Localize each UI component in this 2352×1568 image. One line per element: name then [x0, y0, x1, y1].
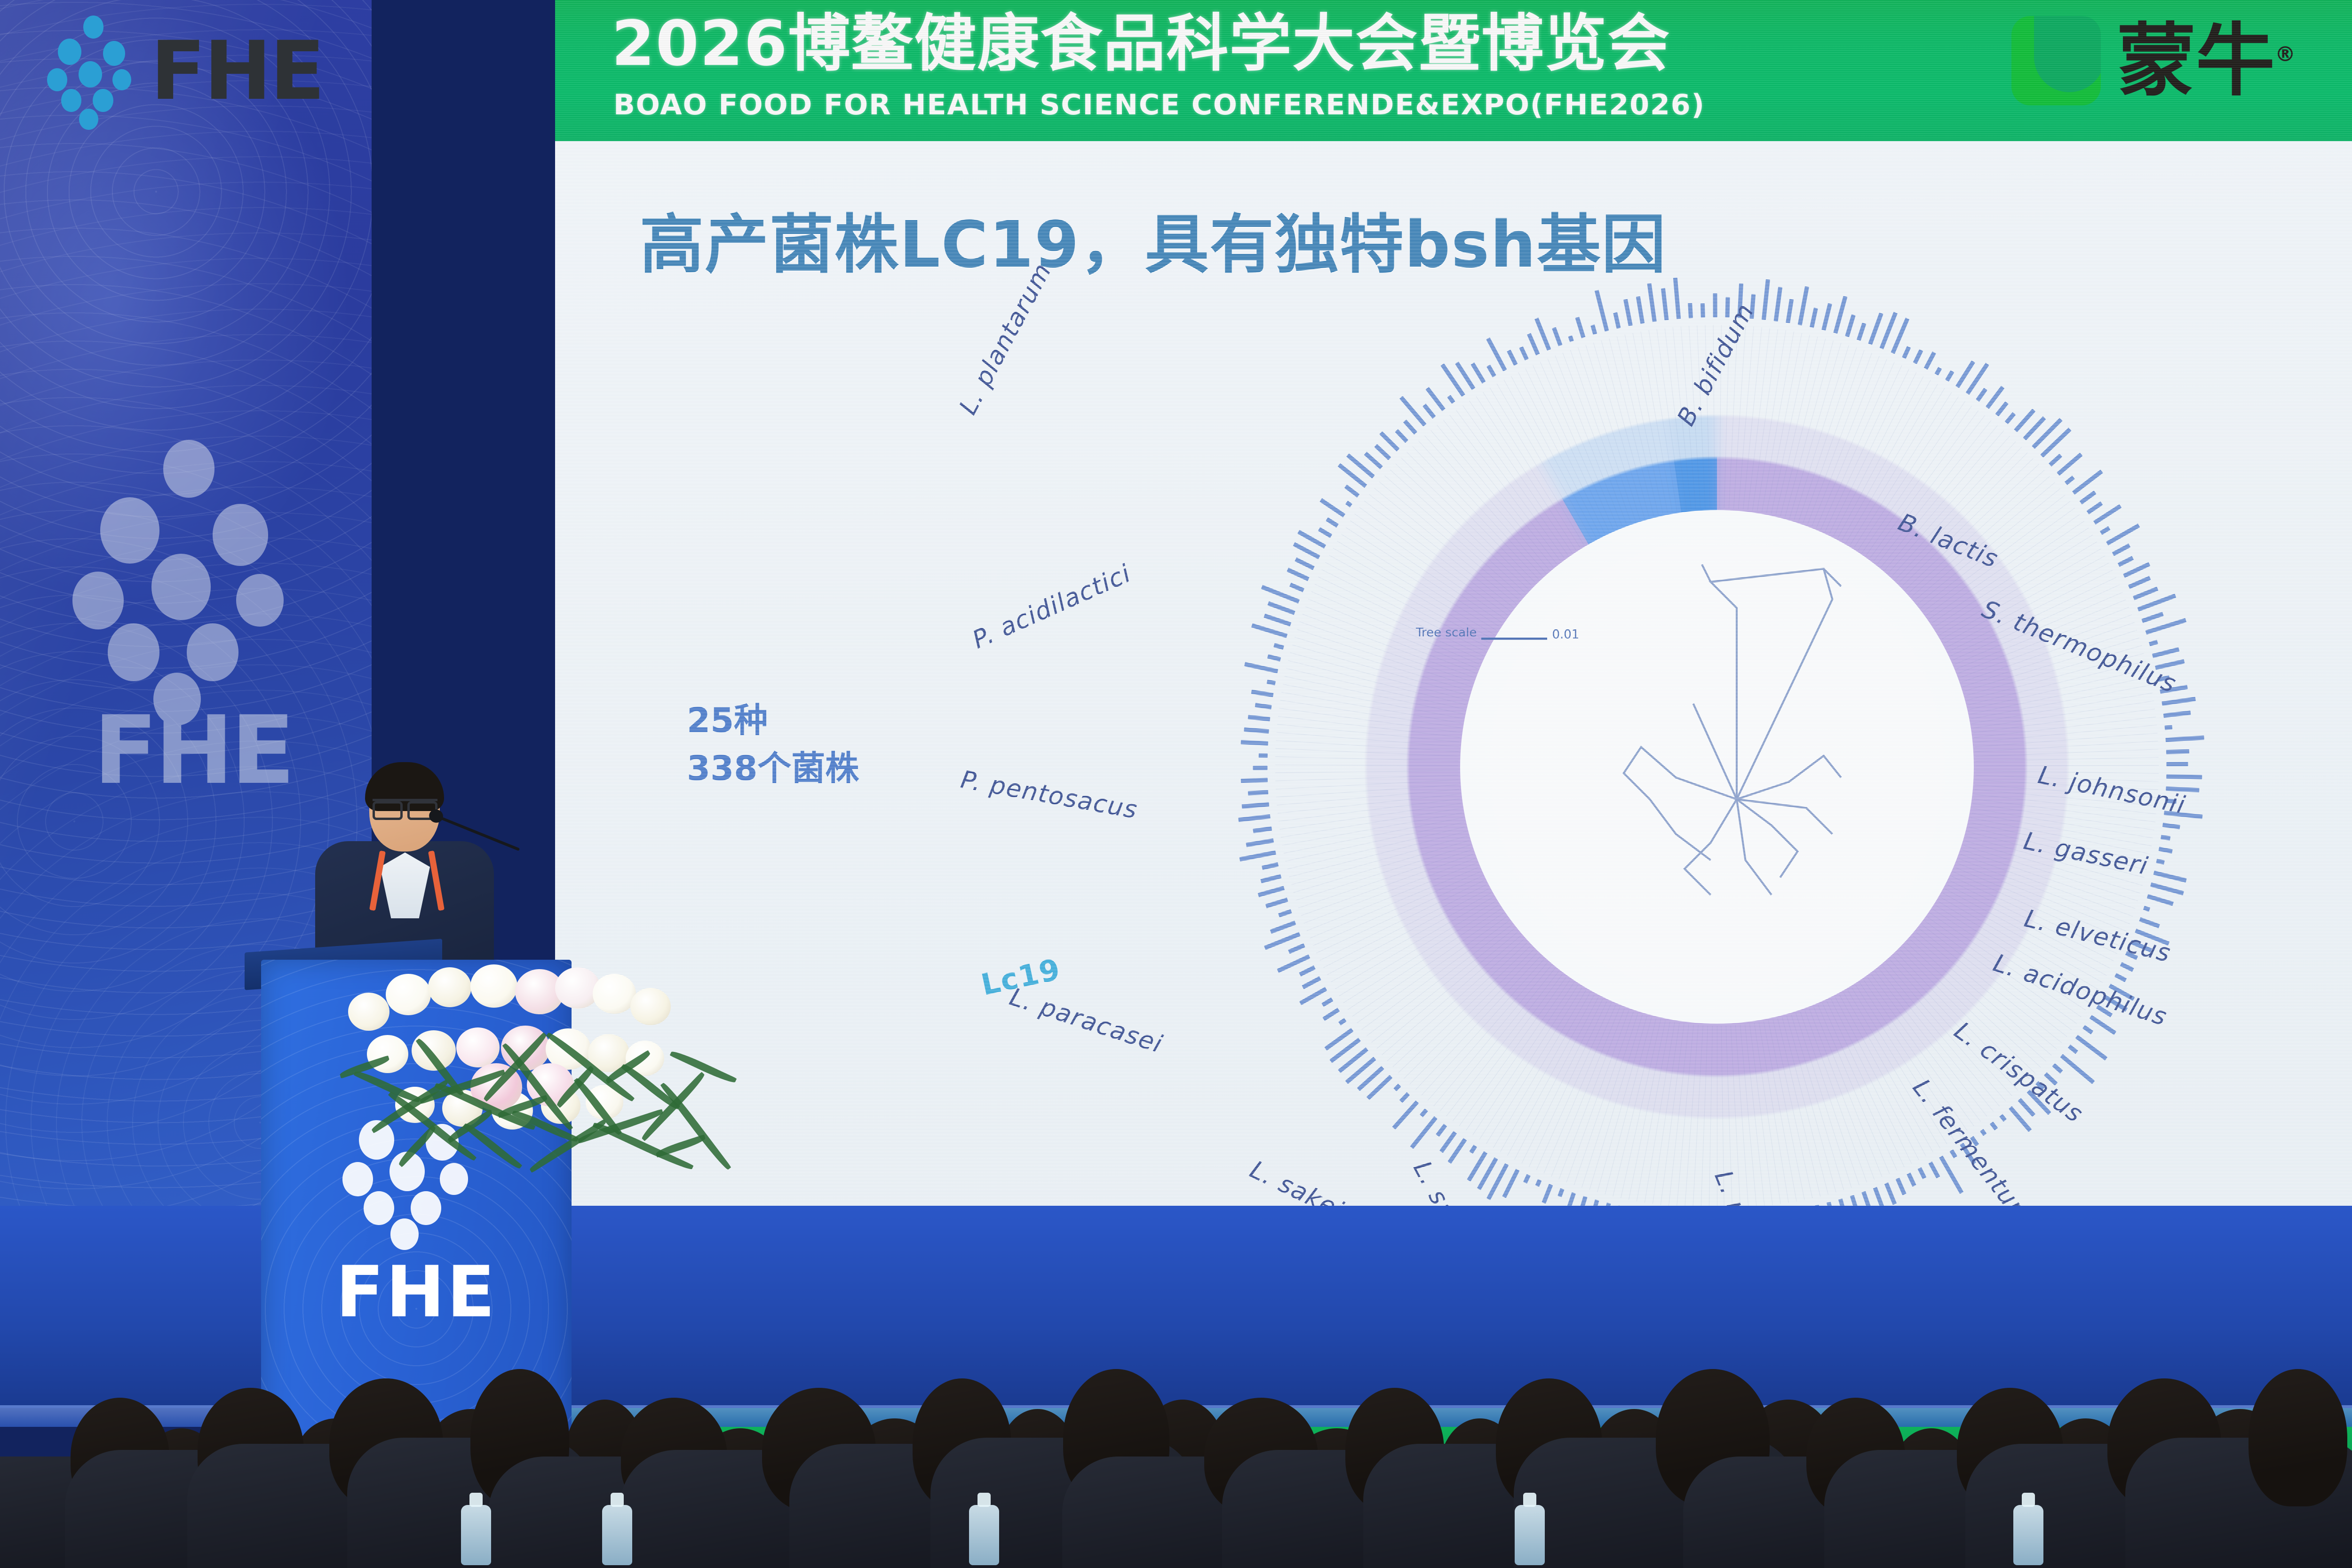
flower-bloom — [348, 993, 389, 1031]
mengniu-mark-icon — [2011, 16, 2101, 105]
circular-phylogenetic-tree: L. plantarumB. bifidumB. lactisS. thermo… — [1223, 273, 2211, 1261]
flower-bloom — [386, 974, 431, 1015]
flower-leaf — [397, 1125, 438, 1167]
flower-bloom — [456, 1027, 500, 1067]
audience-head — [2249, 1369, 2347, 1506]
fhe-molecule-icon-large — [94, 461, 292, 696]
audience-silhouettes — [0, 1305, 2352, 1568]
flower-arrangement — [329, 922, 687, 1186]
tree-scale-line — [1481, 637, 1547, 640]
flower-bloom — [470, 964, 517, 1008]
species-label-p-acidilactici: P. acidilactici — [968, 559, 1135, 654]
slide-annotation: 25种 338个菌株 — [687, 696, 859, 792]
registered-trademark-icon: ® — [2275, 42, 2296, 66]
speaker-lanyard — [372, 851, 442, 912]
mengniu-logo-text: 蒙牛 — [2117, 15, 2275, 107]
flower-bloom — [630, 988, 671, 1025]
fhe-logo-top-left: FHE — [56, 17, 347, 125]
tree-scale-label: Tree scale — [1416, 626, 1477, 640]
annotation-species-count: 25种 — [687, 696, 859, 744]
inner-tree-branches — [1519, 530, 1954, 964]
annotation-strain-count: 338个菌株 — [687, 744, 859, 792]
fhe-molecule-icon — [56, 24, 135, 118]
slide-title: 高产菌株LC19，具有独特bsh基因 — [640, 193, 1667, 286]
water-bottle — [1515, 1505, 1545, 1565]
species-label-p-pentosacus: P. pentosacus — [959, 765, 1140, 824]
event-title: 2026博鳌健康食品科学大会暨博览会 — [612, 11, 1882, 77]
event-subtitle: BOAO FOOD FOR HEALTH SCIENCE CONFERENDE&… — [613, 88, 1883, 121]
water-bottle — [969, 1505, 999, 1565]
species-label-l-paracasei: L. paracasei — [1006, 983, 1166, 1059]
water-bottle — [461, 1505, 491, 1565]
flower-bloom — [593, 974, 636, 1014]
speaker-glasses-icon — [373, 799, 437, 813]
led-header-band: 2026博鳌健康食品科学大会暨博览会 BOAO FOOD FOR HEALTH … — [555, 0, 2352, 141]
flower-bloom — [428, 967, 471, 1007]
tree-scale-value: 0.01 — [1552, 628, 1579, 642]
water-bottle — [2013, 1505, 2043, 1565]
mengniu-sponsor-logo: 蒙牛® — [2011, 16, 2296, 105]
tree-scale-bar: Tree scale 0.01 — [1416, 626, 1579, 640]
conference-stage-photo: FHE FHE 2026博鳌健康食品科学大会暨博览会 BOAO FOOD FOR… — [0, 0, 2352, 1568]
fhe-logo-text: FHE — [151, 31, 323, 111]
water-bottle — [602, 1505, 632, 1565]
